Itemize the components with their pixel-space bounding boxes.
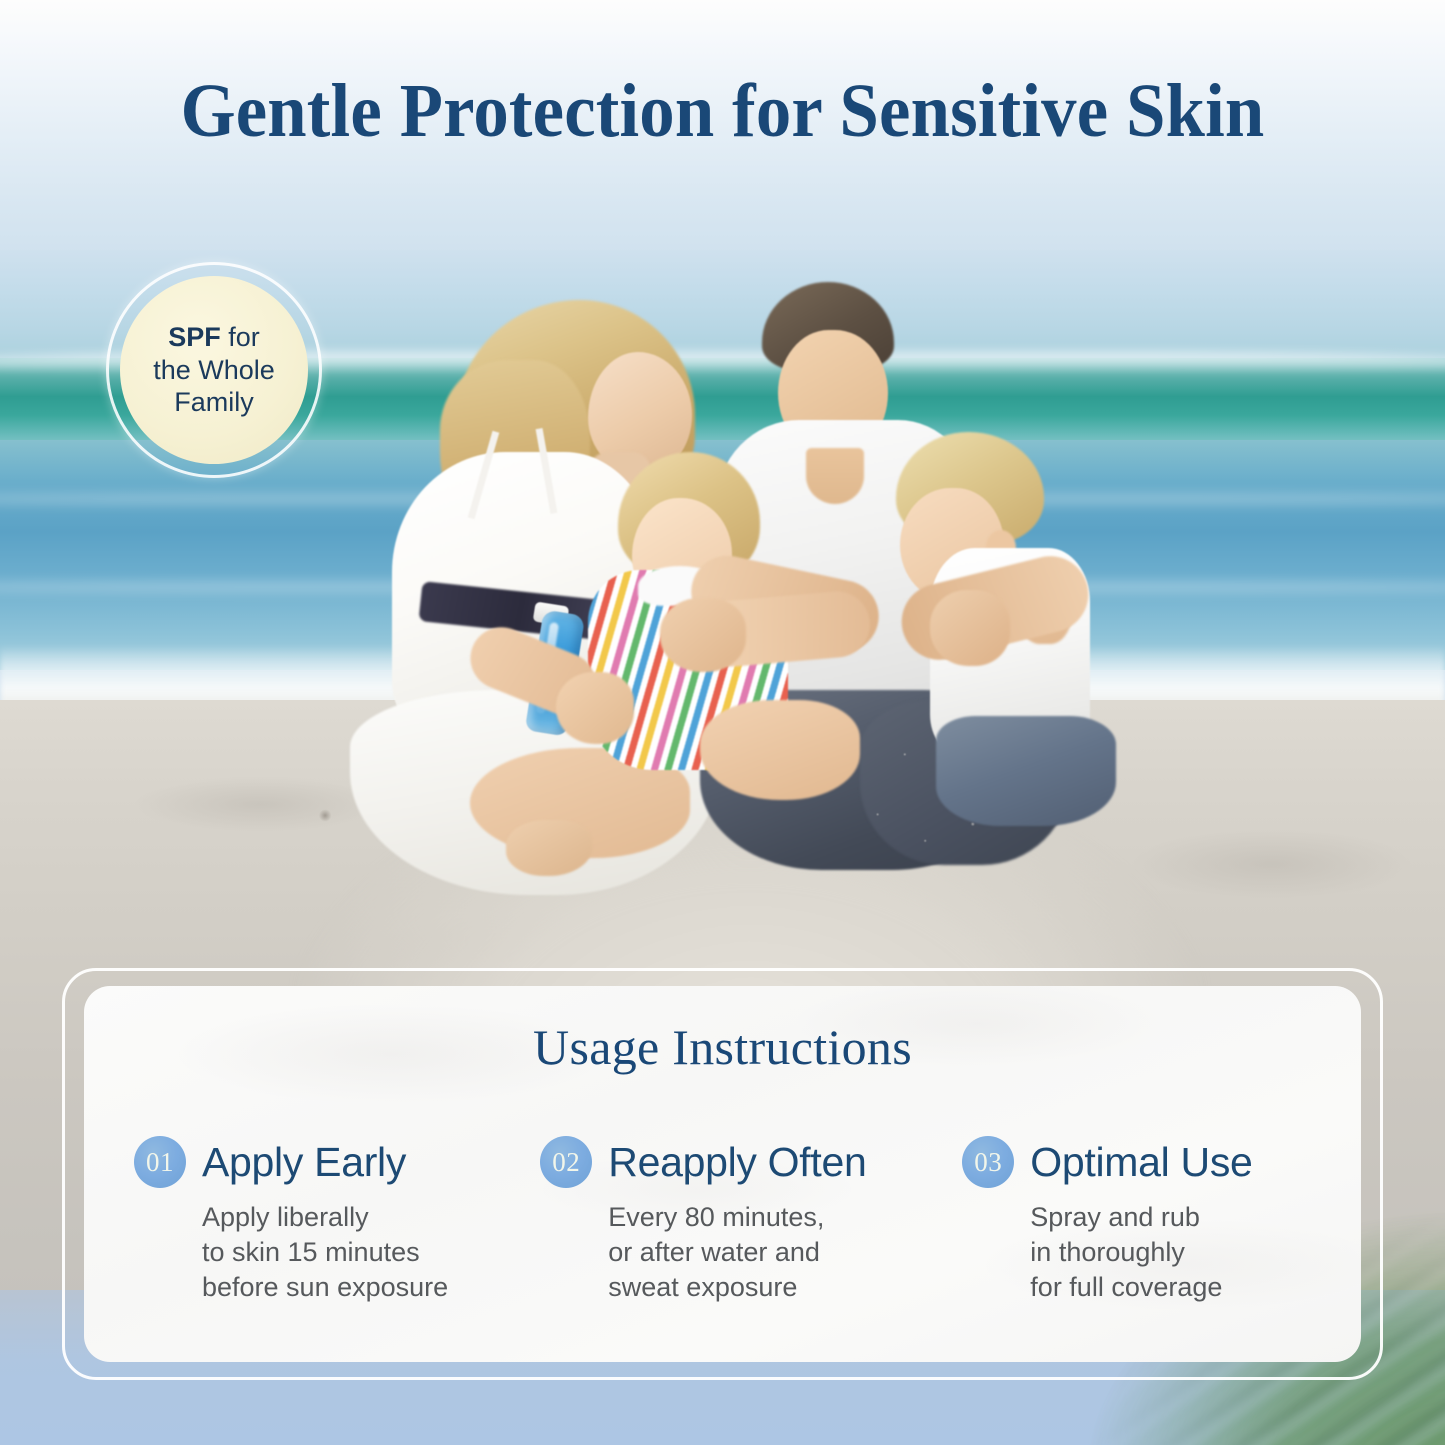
headline-container: Gentle Protection for Sensitive Skin (0, 72, 1445, 152)
badge-disc: SPF for the Whole Family (120, 276, 308, 464)
instruction-step-03: 03 Optimal Use Spray and rub in thorough… (962, 1136, 1337, 1305)
usage-instructions-panel: Usage Instructions 01 Apply Early Apply … (84, 986, 1361, 1362)
step-title: Reapply Often (608, 1139, 866, 1186)
step-title: Optimal Use (1030, 1139, 1252, 1186)
girl-leg (700, 700, 860, 800)
step-title: Apply Early (202, 1139, 406, 1186)
step-number-badge: 02 (540, 1136, 592, 1188)
infographic-page: Gentle Protection for Sensitive Skin SPF… (0, 0, 1445, 1445)
badge-line-1: SPF for (153, 321, 275, 354)
step-body-text: Apply liberally to skin 15 minutes befor… (202, 1200, 540, 1305)
spf-family-badge: SPF for the Whole Family (106, 262, 322, 478)
page-title: Gentle Protection for Sensitive Skin (51, 72, 1395, 152)
mother-hand (556, 672, 634, 744)
mother-foot (506, 820, 592, 876)
badge-line-2: the Whole (153, 354, 275, 387)
step-header: 03 Optimal Use (962, 1136, 1337, 1188)
step-number-badge: 01 (134, 1136, 186, 1188)
step-body-text: Every 80 minutes, or after water and swe… (608, 1200, 962, 1305)
instruction-step-01: 01 Apply Early Apply liberally to skin 1… (134, 1136, 540, 1305)
badge-line-3: Family (153, 386, 275, 419)
father-right-hand (930, 590, 1010, 666)
step-header: 02 Reapply Often (540, 1136, 962, 1188)
father-shirt-vneck (806, 448, 864, 504)
badge-for-word: for (221, 322, 260, 352)
father-left-hand (660, 598, 746, 672)
panel-heading: Usage Instructions (84, 1018, 1361, 1076)
step-number-badge: 03 (962, 1136, 1014, 1188)
badge-spf-word: SPF (168, 322, 221, 352)
badge-text: SPF for the Whole Family (139, 321, 289, 420)
step-header: 01 Apply Early (134, 1136, 540, 1188)
instruction-step-02: 02 Reapply Often Every 80 minutes, or af… (540, 1136, 962, 1305)
steps-row: 01 Apply Early Apply liberally to skin 1… (134, 1136, 1337, 1305)
boy-blue-shorts (936, 716, 1116, 826)
step-body-text: Spray and rub in thoroughly for full cov… (1030, 1200, 1337, 1305)
